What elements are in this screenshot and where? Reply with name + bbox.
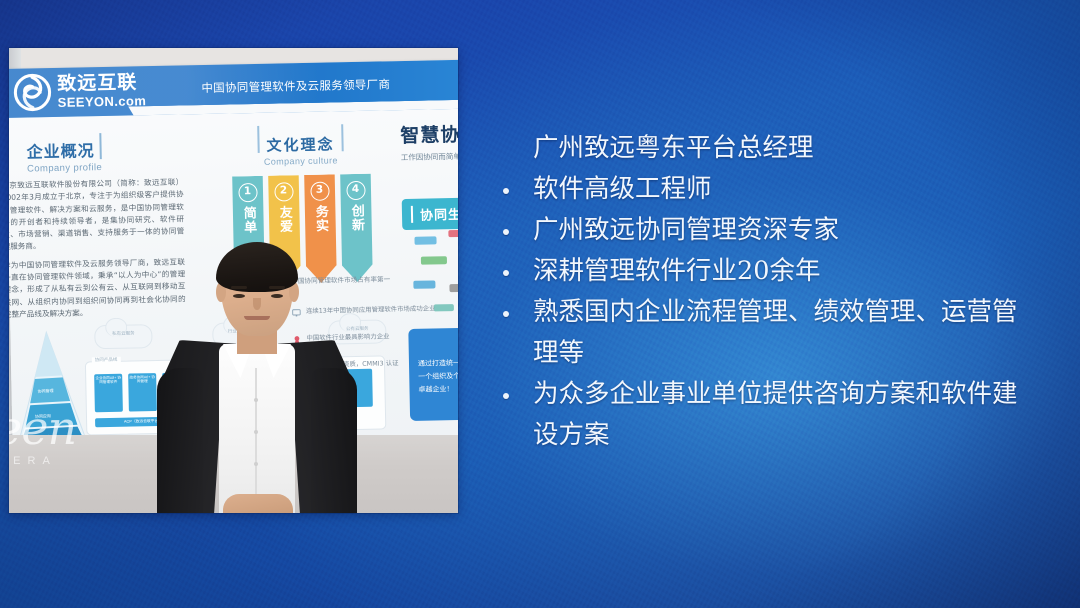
culture-number: 1	[238, 183, 257, 202]
culture-word: 务实	[313, 205, 327, 233]
bio-bullet-item: 广州致远协同管理资深专家	[494, 210, 1024, 251]
bio-title: 广州致远粤东平台总经理	[494, 128, 1024, 169]
eyebrow-left	[231, 286, 247, 289]
nose	[253, 298, 261, 310]
cloud-label: 私有云服务	[95, 330, 151, 337]
smart-collab-title: 智慧协同	[400, 118, 458, 148]
vision-card-body: 通过打造统一工作平台，让协同软件服务于每一个组织及个人，为社会创造巨大价值，成就…	[418, 355, 458, 397]
seeyon-logo: 致远互联 SEEYON.com	[13, 71, 146, 112]
cloud-shape-icon: 私有云服务	[94, 324, 152, 349]
shirt-button	[254, 398, 258, 402]
divider	[258, 126, 260, 153]
collab-ecosystem-label: 协同生态	[420, 203, 458, 223]
banner-header-strip: 致远互联 SEEYON.com 中国协同管理软件及云服务领导厂商	[9, 60, 458, 118]
smart-collab-subtitle: 工作因协同而简单	[401, 149, 458, 165]
banner-notch	[120, 99, 458, 118]
svg-text:协同应用: 协同应用	[35, 412, 51, 419]
shirt-button	[254, 462, 258, 466]
partner-logo	[421, 256, 447, 265]
partner-logo	[413, 280, 435, 288]
vision-card: 企业愿景 通过打造统一工作平台，让协同软件服务于每一个组织及个人，为社会创造巨大…	[408, 326, 458, 421]
partner-logo	[449, 284, 458, 293]
culture-title-cn: 文化理念	[266, 133, 334, 155]
tile-label: 企业协同A8+ 协同管理软件	[94, 374, 122, 388]
bio-bullet-item: 深耕管理软件行业20余年	[494, 251, 1024, 292]
partner-logo	[448, 230, 458, 237]
tile-label: 政务协同A6+ 协同管理	[128, 373, 156, 387]
bio-bullet-item: 熟悉国内企业流程管理、绩效管理、运营管理等	[494, 292, 1024, 374]
smart-collab-subtitle-2: 简单	[401, 165, 458, 181]
product-tile: 企业协同A8+ 协同管理软件	[94, 374, 123, 413]
seeyon-swirl-icon	[13, 73, 52, 112]
svg-text:协同管理: 协同管理	[37, 387, 53, 394]
smart-collab-section: 智慧协同 工作因协同而简单 简单 协同生态	[400, 118, 458, 230]
slide-canvas: 致远互联 SEEYON.com 中国协同管理软件及云服务领导厂商 企业概况 Co…	[0, 0, 1080, 608]
photo-inner: 致远互联 SEEYON.com 中国协同管理软件及云服务领导厂商 企业概况 Co…	[9, 48, 458, 513]
partner-logo	[414, 236, 436, 244]
profile-title-cn: 企业概况	[26, 137, 94, 162]
bio-text-block: 广州致远粤东平台总经理 软件高级工程师 广州致远协同管理资深专家 深耕管理软件行…	[494, 128, 1024, 456]
divider	[411, 205, 413, 222]
profile-paragraph: 北京致远互联软件股份有限公司（简称：致远互联）2002年3月成立于北京，专注于为…	[9, 176, 185, 253]
eye-left	[233, 294, 245, 298]
profile-heading: 企业概况	[9, 131, 187, 163]
eye-right	[271, 294, 283, 298]
culture-title-en: Company culture	[221, 154, 381, 167]
shirt-placket	[255, 368, 257, 513]
hair	[216, 242, 298, 292]
brand-name-cn: 致远互联	[57, 73, 146, 94]
suit-sleeve-left	[157, 368, 203, 513]
culture-heading: 文化理念	[220, 123, 381, 156]
dress-shirt	[219, 344, 295, 513]
culture-word: 简单	[241, 206, 255, 234]
shirt-button	[254, 430, 258, 434]
divider	[341, 124, 343, 151]
culture-number: 2	[274, 182, 293, 201]
presenter-figure	[161, 248, 353, 513]
bio-bullet-item: 软件高级工程师	[494, 169, 1024, 210]
banner-tagline: 中国协同管理软件及云服务领导厂商	[201, 76, 390, 96]
collab-ecosystem-box: 协同生态	[402, 196, 458, 230]
mouth	[244, 316, 270, 320]
culture-word: 友爱	[277, 205, 291, 233]
brand-name-en: SEEYON.com	[58, 94, 147, 109]
profile-paragraph: 作为中国协同管理软件及云服务领导厂商，致远互联一直在协同管理软件领域，秉承“以人…	[9, 256, 186, 321]
clasped-hands	[223, 494, 293, 513]
presenter-photo: 致远互联 SEEYON.com 中国协同管理软件及云服务领导厂商 企业概况 Co…	[9, 48, 458, 513]
profile-title-en: Company profile	[27, 160, 187, 174]
partner-logo-cloud	[408, 226, 458, 324]
culture-number: 4	[346, 181, 365, 200]
eyebrow-right	[269, 286, 285, 289]
divider	[99, 133, 101, 159]
vision-card-title: 企业愿景	[417, 333, 458, 353]
partner-logo	[434, 304, 454, 311]
suit-sleeve-right	[311, 368, 357, 513]
culture-number: 3	[310, 182, 329, 201]
bio-bullet-item: 为众多企业事业单位提供咨询方案和软件建设方案	[494, 374, 1024, 456]
bio-bullet-list: 软件高级工程师 广州致远协同管理资深专家 深耕管理软件行业20余年 熟悉国内企业…	[494, 169, 1024, 456]
seeyon-logo-text: 致远互联 SEEYON.com	[57, 73, 146, 109]
group-label: 协同产品线	[92, 357, 121, 364]
product-tile: 政务协同A6+ 协同管理	[128, 373, 157, 412]
culture-word: 创新	[349, 204, 363, 232]
